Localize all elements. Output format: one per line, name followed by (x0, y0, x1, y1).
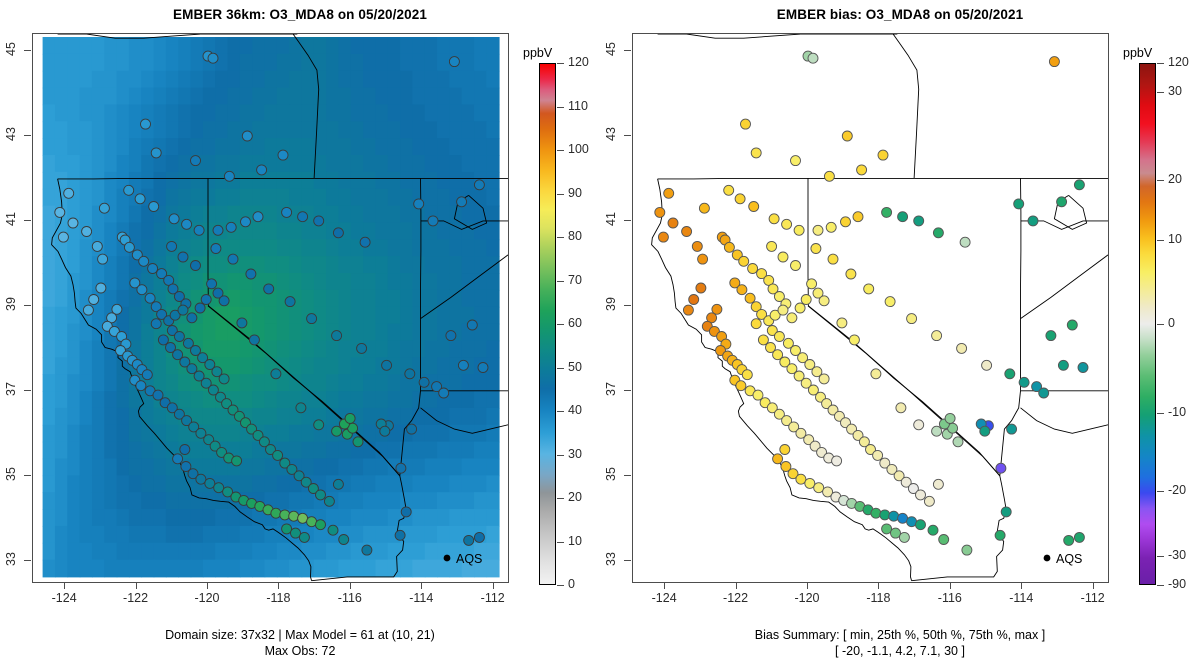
aqs-site-marker[interactable] (148, 264, 158, 274)
bias-site-marker[interactable] (957, 343, 967, 353)
aqs-site-marker[interactable] (64, 188, 74, 198)
aqs-site-marker[interactable] (289, 511, 299, 521)
bias-site-marker[interactable] (658, 232, 668, 242)
aqs-site-marker[interactable] (191, 156, 201, 166)
bias-site-marker[interactable] (842, 131, 852, 141)
aqs-site-marker[interactable] (446, 331, 456, 341)
bias-site-marker[interactable] (898, 212, 908, 222)
bias-site-marker[interactable] (737, 285, 747, 295)
aqs-site-marker[interactable] (380, 426, 390, 436)
x-axis-label: -124 (42, 591, 86, 605)
aqs-site-marker[interactable] (242, 131, 252, 141)
aqs-site-marker[interactable] (458, 360, 468, 370)
x-axis-tick (1021, 582, 1022, 589)
bias-site-marker[interactable] (933, 479, 943, 489)
aqs-site-marker[interactable] (339, 535, 349, 545)
bias-site-marker[interactable] (837, 318, 847, 328)
x-axis-tick (278, 582, 279, 589)
y-axis-tick (24, 135, 31, 136)
y-axis-tick (24, 50, 31, 51)
aqs-site-marker[interactable] (151, 148, 161, 158)
aqs-site-marker[interactable] (333, 479, 343, 489)
colorbar-tick (1157, 180, 1164, 181)
aqs-site-marker[interactable] (145, 293, 155, 303)
aqs-site-marker[interactable] (219, 374, 229, 384)
model-caption-line2: Max Obs: 72 (0, 644, 600, 659)
aqs-site-marker[interactable] (124, 185, 134, 195)
aqs-site-marker[interactable] (153, 390, 163, 400)
colorbar-tick-label: 10 (1168, 232, 1182, 246)
colorbar-tick (1157, 240, 1164, 241)
aqs-site-marker[interactable] (249, 335, 259, 345)
aqs-site-marker[interactable] (280, 510, 290, 520)
colorbar-tick-label: 40 (568, 403, 582, 417)
bias-site-marker[interactable] (1064, 535, 1074, 545)
bias-site-marker[interactable] (724, 242, 734, 252)
bias-site-marker[interactable] (1007, 424, 1017, 434)
aqs-site-marker[interactable] (228, 254, 238, 264)
aqs-site-marker[interactable] (232, 456, 242, 466)
figure-root: EMBER 36km: O3_MDA8 on 05/20/2021 AQS -1… (0, 0, 1200, 672)
bias-site-marker[interactable] (824, 171, 834, 181)
bias-site-marker[interactable] (773, 454, 783, 464)
bias-site-marker[interactable] (739, 256, 749, 266)
aqs-site-marker[interactable] (96, 283, 106, 293)
bias-site-marker[interactable] (751, 148, 761, 158)
bias-site-marker[interactable] (871, 369, 881, 379)
colorbar-tick (557, 281, 564, 282)
bias-site-marker[interactable] (916, 490, 926, 500)
x-axis-label: -118 (256, 591, 300, 605)
aqs-site-marker[interactable] (237, 318, 247, 328)
y-axis-label: 33 (604, 544, 618, 574)
bias-site-marker[interactable] (932, 426, 942, 436)
bias-site-marker[interactable] (683, 305, 693, 315)
aqs-site-marker[interactable] (333, 228, 343, 238)
bias-site-marker[interactable] (655, 207, 665, 217)
aqs-site-marker[interactable] (135, 194, 145, 204)
aqs-site-marker[interactable] (207, 279, 217, 289)
bias-site-marker[interactable] (995, 530, 1005, 540)
aqs-site-marker[interactable] (194, 225, 204, 235)
bias-caption-line1: Bias Summary: [ min, 25th %, 50th %, 75t… (600, 628, 1200, 643)
bias-site-marker[interactable] (928, 525, 938, 535)
aqs-site-marker[interactable] (136, 381, 146, 391)
model-map-plot-area[interactable]: AQS (32, 33, 509, 583)
aqs-site-marker[interactable] (219, 296, 229, 306)
bias-site-marker[interactable] (899, 532, 909, 542)
aqs-site-marker[interactable] (68, 218, 78, 228)
bias-site-marker[interactable] (898, 513, 908, 523)
bias-site-marker[interactable] (939, 535, 949, 545)
bias-site-marker[interactable] (753, 390, 763, 400)
bias-site-marker[interactable] (689, 295, 699, 305)
x-axis-tick (664, 582, 665, 589)
y-axis-label: 43 (604, 119, 618, 149)
y-axis-tick (24, 390, 31, 391)
y-axis-label: 35 (604, 459, 618, 489)
bias-site-marker[interactable] (791, 156, 801, 166)
bias-site-marker[interactable] (826, 222, 836, 232)
aqs-site-marker[interactable] (314, 216, 324, 226)
bias-site-marker[interactable] (962, 545, 972, 555)
colorbar-tick (557, 63, 564, 64)
aqs-site-marker[interactable] (246, 269, 256, 279)
bias-site-marker[interactable] (864, 284, 874, 294)
aqs-site-marker[interactable] (257, 165, 267, 175)
x-axis-label: -120 (185, 591, 229, 605)
y-axis-tick (24, 560, 31, 561)
colorbar-tick (557, 542, 564, 543)
colorbar-tick (1157, 556, 1164, 557)
bias-site-marker[interactable] (1067, 320, 1077, 330)
bias-site-marker[interactable] (692, 241, 702, 251)
aqs-site-marker[interactable] (167, 241, 177, 251)
bias-site-marker[interactable] (741, 119, 751, 129)
bias-site-marker[interactable] (1039, 388, 1049, 398)
bias-site-marker[interactable] (1005, 369, 1015, 379)
bias-site-marker[interactable] (933, 228, 943, 238)
aqs-site-marker[interactable] (98, 254, 108, 264)
aqs-site-marker[interactable] (282, 207, 292, 217)
y-axis-label: 37 (4, 374, 18, 404)
aqs-site-marker[interactable] (332, 331, 342, 341)
y-axis-label: 41 (604, 204, 618, 234)
aqs-site-marker[interactable] (474, 532, 484, 542)
aqs-site-marker[interactable] (362, 545, 372, 555)
aqs-site-marker[interactable] (324, 496, 334, 506)
x-axis-label: -112 (471, 591, 515, 605)
bias-site-marker[interactable] (896, 403, 906, 413)
bias-site-marker[interactable] (736, 381, 746, 391)
bias-site-marker[interactable] (735, 194, 745, 204)
aqs-site-marker[interactable] (467, 320, 477, 330)
aqs-site-marker[interactable] (137, 285, 147, 295)
bias-site-marker[interactable] (682, 227, 692, 237)
colorbar-tick-label: 70 (568, 273, 582, 287)
bias-site-marker[interactable] (916, 520, 926, 530)
y-axis-tick (624, 220, 631, 221)
x-axis-tick (878, 582, 879, 589)
bias-site-marker[interactable] (758, 335, 768, 345)
aqs-legend-label: AQS (456, 552, 482, 566)
bias-site-marker[interactable] (811, 244, 821, 254)
bias-site-marker[interactable] (807, 279, 817, 289)
aqs-site-marker[interactable] (178, 305, 188, 315)
aqs-site-marker[interactable] (82, 227, 92, 237)
aqs-site-marker[interactable] (208, 53, 218, 63)
bias-site-marker[interactable] (880, 510, 890, 520)
bias-site-marker[interactable] (769, 214, 779, 224)
bias-site-marker[interactable] (794, 225, 804, 235)
bias-site-marker[interactable] (1014, 199, 1024, 209)
colorbar-tick-label: -20 (1168, 483, 1186, 497)
aqs-site-marker[interactable] (296, 403, 306, 413)
aqs-site-marker[interactable] (428, 216, 438, 226)
aqs-site-marker[interactable] (180, 445, 190, 455)
bias-colorbar-gradient (1139, 63, 1156, 585)
y-axis-tick (624, 475, 631, 476)
aqs-site-marker[interactable] (174, 332, 184, 342)
colorbar-tick (1157, 585, 1164, 586)
bias-site-marker[interactable] (882, 207, 892, 217)
colorbar-tick-label: 60 (568, 316, 582, 330)
x-axis-tick (1093, 582, 1094, 589)
colorbar-tick (1157, 491, 1164, 492)
aqs-site-marker[interactable] (211, 244, 221, 254)
bias-site-marker[interactable] (871, 508, 881, 518)
bias-site-marker[interactable] (778, 252, 788, 262)
bias-site-marker[interactable] (873, 450, 883, 460)
panel-bias-map: EMBER bias: O3_MDA8 on 05/20/2021 AQS -1… (600, 0, 1200, 672)
aqs-site-marker[interactable] (345, 413, 355, 423)
bias-caption-line2: [ -20, -1.1, 4.2, 7.1, 30 ] (600, 644, 1200, 659)
y-axis-label: 45 (604, 34, 618, 64)
x-axis-tick (350, 582, 351, 589)
bias-map-plot-area[interactable]: AQS (632, 33, 1109, 583)
bias-site-marker[interactable] (853, 212, 863, 222)
aqs-site-marker[interactable] (464, 535, 474, 545)
x-axis-tick (493, 582, 494, 589)
colorbar-tick (1157, 63, 1164, 64)
bias-site-marker[interactable] (774, 332, 784, 342)
aqs-site-marker[interactable] (141, 119, 151, 129)
aqs-site-marker[interactable] (191, 261, 201, 271)
bias-site-marker[interactable] (724, 185, 734, 195)
bias-site-marker[interactable] (1078, 363, 1088, 373)
bias-map-canvas: AQS (633, 34, 1108, 582)
aqs-site-marker[interactable] (419, 377, 429, 387)
aqs-site-marker[interactable] (173, 454, 183, 464)
bias-site-marker[interactable] (795, 303, 805, 313)
colorbar-tick-label: 20 (1168, 172, 1182, 186)
aqs-site-marker[interactable] (213, 225, 223, 235)
bias-site-marker[interactable] (749, 202, 759, 212)
x-axis-label: -124 (642, 591, 686, 605)
colorbar-tick-label: 80 (568, 229, 582, 243)
bias-site-marker[interactable] (780, 445, 790, 455)
aqs-site-marker[interactable] (187, 313, 197, 323)
aqs-site-marker[interactable] (271, 369, 281, 379)
bias-site-marker[interactable] (907, 314, 917, 324)
bias-site-marker[interactable] (819, 296, 829, 306)
aqs-site-marker[interactable] (253, 212, 263, 222)
bias-site-marker[interactable] (745, 293, 755, 303)
aqs-site-marker[interactable] (328, 525, 338, 535)
bias-site-marker[interactable] (857, 165, 867, 175)
aqs-site-marker[interactable] (264, 284, 274, 294)
bias-site-marker[interactable] (885, 297, 895, 307)
aqs-site-marker[interactable] (395, 530, 405, 540)
bias-site-marker[interactable] (778, 305, 788, 315)
aqs-site-marker[interactable] (139, 256, 149, 266)
aqs-site-marker[interactable] (178, 252, 188, 262)
bias-site-marker[interactable] (849, 335, 859, 345)
aqs-site-marker[interactable] (151, 319, 161, 329)
aqs-site-marker[interactable] (478, 363, 488, 373)
bias-site-marker[interactable] (696, 283, 706, 293)
aqs-site-marker[interactable] (382, 360, 392, 370)
bias-site-marker[interactable] (914, 216, 924, 226)
bias-site-marker[interactable] (751, 319, 761, 329)
bias-site-marker[interactable] (1001, 507, 1011, 517)
bias-site-marker[interactable] (1058, 360, 1068, 370)
bias-site-marker[interactable] (953, 437, 963, 447)
bias-site-marker[interactable] (808, 53, 818, 63)
colorbar-tick-label: -10 (1168, 405, 1186, 419)
bias-site-marker[interactable] (1074, 532, 1084, 542)
y-axis-tick (24, 220, 31, 221)
aqs-site-marker[interactable] (149, 202, 159, 212)
colorbar-tick-label: 120 (1168, 55, 1189, 69)
bias-site-marker[interactable] (819, 374, 829, 384)
bias-site-marker[interactable] (846, 269, 856, 279)
y-axis-label: 33 (4, 544, 18, 574)
bias-site-marker[interactable] (960, 237, 970, 247)
bias-site-marker[interactable] (767, 241, 777, 251)
aqs-site-marker[interactable] (449, 57, 459, 67)
bias-site-marker[interactable] (924, 496, 934, 506)
aqs-site-marker[interactable] (124, 242, 134, 252)
aqs-site-marker[interactable] (401, 507, 411, 517)
aqs-site-marker[interactable] (316, 520, 326, 530)
x-axis-label: -114 (999, 591, 1043, 605)
model-colorbar-unit: ppbV (523, 46, 552, 60)
x-axis-tick (207, 582, 208, 589)
bias-site-marker[interactable] (813, 225, 823, 235)
colorbar-tick (557, 324, 564, 325)
bias-site-marker[interactable] (1049, 57, 1059, 67)
aqs-site-marker[interactable] (182, 219, 192, 229)
bias-site-marker[interactable] (914, 420, 924, 430)
aqs-site-marker[interactable] (205, 478, 215, 488)
aqs-site-marker[interactable] (55, 207, 65, 217)
aqs-site-marker[interactable] (278, 150, 288, 160)
x-axis-label: -116 (928, 591, 972, 605)
aqs-site-marker[interactable] (58, 232, 68, 242)
aqs-site-marker[interactable] (99, 203, 109, 213)
bias-site-marker[interactable] (1028, 216, 1038, 226)
colorbar-tick-label: 20 (568, 490, 582, 504)
y-axis-tick (24, 305, 31, 306)
bias-site-marker[interactable] (996, 463, 1006, 473)
bias-site-marker[interactable] (787, 313, 797, 323)
bias-site-marker[interactable] (699, 203, 709, 213)
aqs-site-marker[interactable] (224, 171, 234, 181)
aqs-site-marker[interactable] (299, 532, 309, 542)
bias-site-marker[interactable] (832, 456, 842, 466)
bias-site-marker[interactable] (742, 370, 752, 380)
aqs-site-marker[interactable] (158, 335, 168, 345)
colorbar-tick-label: 110 (568, 99, 588, 113)
bias-site-marker[interactable] (889, 511, 899, 521)
bias-site-marker[interactable] (980, 426, 990, 436)
aqs-site-marker[interactable] (226, 222, 236, 232)
bias-site-marker[interactable] (1046, 331, 1056, 341)
bias-site-marker[interactable] (1074, 180, 1084, 190)
aqs-site-marker[interactable] (291, 528, 301, 538)
bias-site-marker[interactable] (748, 264, 758, 274)
bias-site-marker[interactable] (982, 360, 992, 370)
aqs-site-marker[interactable] (314, 420, 324, 430)
aqs-site-marker[interactable] (273, 450, 283, 460)
bias-site-marker[interactable] (664, 188, 674, 198)
aqs-site-marker[interactable] (241, 217, 251, 227)
colorbar-tick-label: 0 (568, 577, 575, 591)
x-axis-tick (64, 582, 65, 589)
aqs-site-marker[interactable] (357, 343, 367, 353)
bias-site-marker[interactable] (932, 331, 942, 341)
bias-site-marker[interactable] (782, 219, 792, 229)
aqs-site-marker[interactable] (405, 369, 415, 379)
aqs-site-marker[interactable] (353, 437, 363, 447)
panel-title-bias: EMBER bias: O3_MDA8 on 05/20/2021 (600, 7, 1200, 22)
aqs-site-marker[interactable] (92, 241, 102, 251)
aqs-site-marker[interactable] (201, 295, 211, 305)
aqs-site-marker[interactable] (396, 463, 406, 473)
bias-site-marker[interactable] (805, 478, 815, 488)
aqs-site-marker[interactable] (195, 303, 205, 313)
aqs-site-marker[interactable] (298, 212, 308, 222)
model-raster-grid (43, 37, 500, 577)
bias-site-marker[interactable] (668, 218, 678, 228)
bias-site-marker[interactable] (791, 261, 801, 271)
bias-site-marker[interactable] (801, 295, 811, 305)
colorbar-tick (557, 150, 564, 151)
bias-site-marker[interactable] (828, 254, 838, 264)
model-colorbar-gradient (539, 63, 556, 585)
aqs-site-marker[interactable] (316, 490, 326, 500)
bias-site-marker[interactable] (1019, 377, 1029, 387)
aqs-site-marker[interactable] (414, 199, 424, 209)
x-axis-label: -122 (114, 591, 158, 605)
aqs-site-marker[interactable] (457, 197, 467, 207)
colorbar-tick (1157, 92, 1164, 93)
y-axis-label: 41 (4, 204, 18, 234)
aqs-site-marker[interactable] (285, 297, 295, 307)
bias-site-marker[interactable] (878, 150, 888, 160)
colorbar-tick-label: 0 (1168, 316, 1175, 330)
colorbar-tick-label: -30 (1168, 548, 1186, 562)
aqs-site-marker[interactable] (407, 424, 417, 434)
bias-site-marker[interactable] (698, 254, 708, 264)
aqs-site-marker[interactable] (332, 426, 342, 436)
bias-site-marker[interactable] (945, 413, 955, 423)
colorbar-tick (557, 498, 564, 499)
aqs-site-marker[interactable] (360, 237, 370, 247)
bias-site-marker[interactable] (1057, 197, 1067, 207)
aqs-site-marker[interactable] (169, 214, 179, 224)
aqs-site-marker[interactable] (439, 388, 449, 398)
x-axis-label: -118 (856, 591, 900, 605)
aqs-site-marker[interactable] (142, 370, 152, 380)
bias-site-marker[interactable] (891, 528, 901, 538)
aqs-site-marker[interactable] (298, 513, 308, 523)
model-caption-line1: Domain size: 37x32 | Max Model = 61 at (… (0, 628, 600, 643)
y-axis-tick (624, 135, 631, 136)
x-axis-tick (736, 582, 737, 589)
aqs-site-marker[interactable] (271, 508, 281, 518)
y-axis-label: 37 (604, 374, 618, 404)
x-axis-tick (421, 582, 422, 589)
y-axis-tick (624, 305, 631, 306)
bias-site-marker[interactable] (841, 217, 851, 227)
colorbar-tick-label: 10 (568, 534, 582, 548)
aqs-site-marker[interactable] (83, 305, 93, 315)
aqs-site-marker[interactable] (474, 180, 484, 190)
aqs-site-marker[interactable] (307, 314, 317, 324)
aqs-site-marker[interactable] (89, 295, 99, 305)
